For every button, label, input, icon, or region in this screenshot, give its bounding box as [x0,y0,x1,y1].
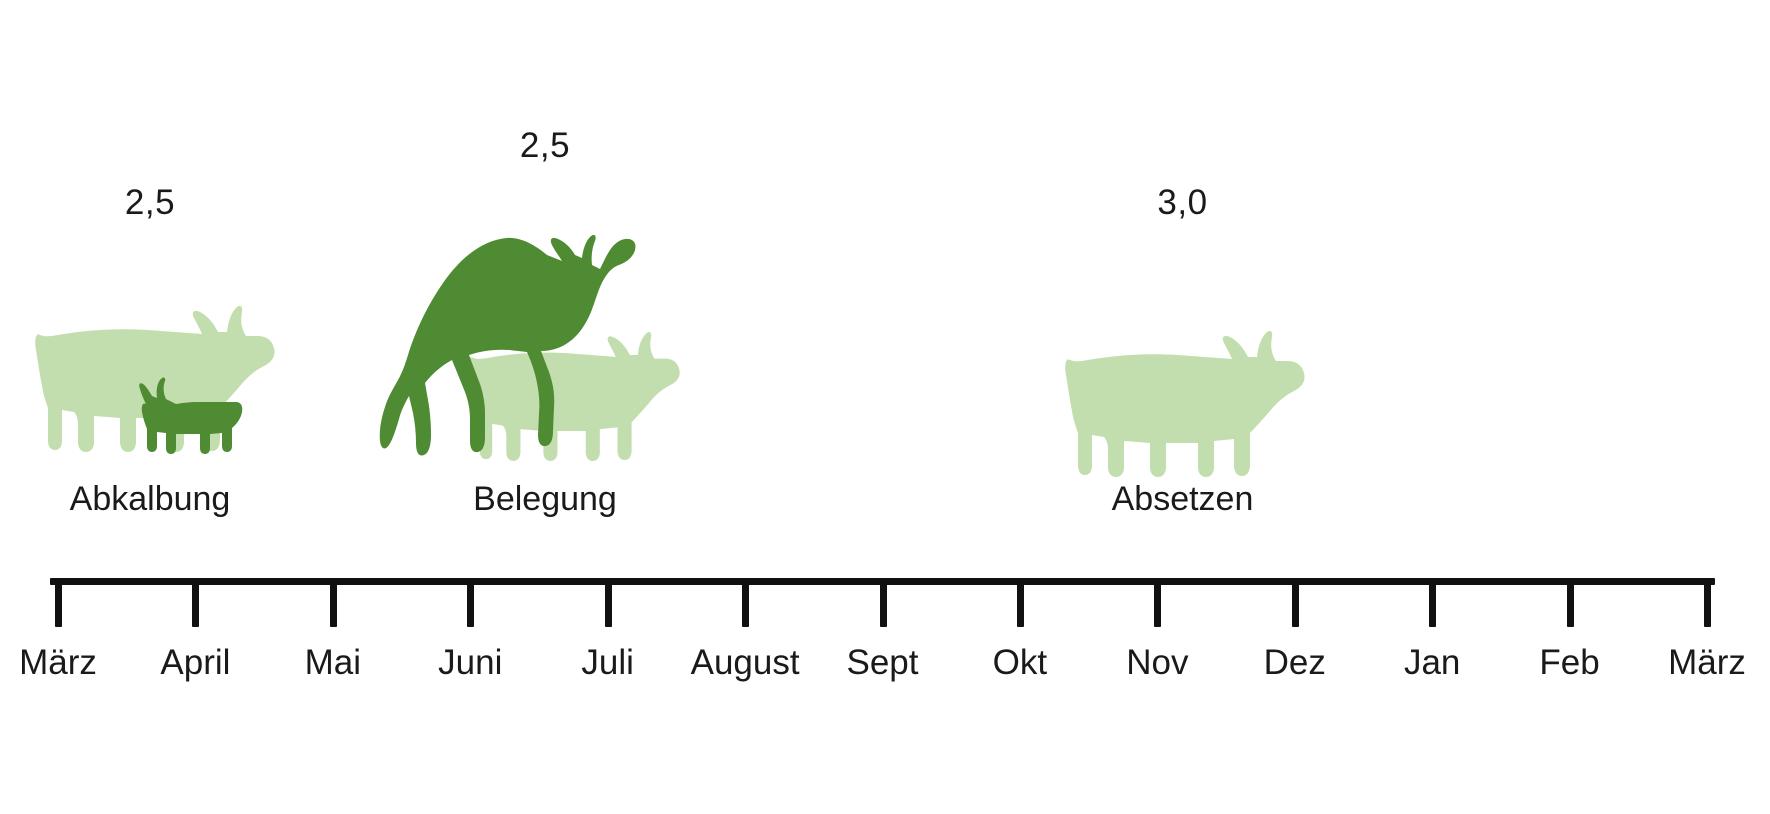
cow-light-icon [460,318,685,468]
axis-tick [1154,580,1161,627]
axis-tick [880,580,887,627]
cow-light-icon [28,290,278,460]
axis-tick [467,580,474,627]
timeline-diagram: 2,5 Abkalbung 2,5 [0,0,1770,814]
event-group-absetzen: 3,0 Absetzen [1030,0,1335,560]
axis-tick-label: Juni [438,645,502,680]
axis-tick-label: Sept [847,645,919,680]
event-value-belegung: 2,5 [370,128,720,163]
axis-tick [1429,580,1436,627]
cow-light-icon [1058,315,1308,485]
axis-tick [605,580,612,627]
axis-tick [1704,580,1711,627]
figure-group-abkalbung [0,0,300,560]
axis-tick-label: Jan [1404,645,1460,680]
axis-tick-label: März [19,645,97,680]
axis-tick-label: Feb [1539,645,1599,680]
timeline-axis [50,570,1715,640]
axis-tick-label: August [691,645,800,680]
figure-group-belegung [370,0,720,560]
figure-group-absetzen [1030,0,1335,560]
axis-tick-label: Juli [581,645,634,680]
event-group-abkalbung: 2,5 Abkalbung [0,0,300,560]
event-label-abkalbung: Abkalbung [0,482,300,516]
axis-tick-label: März [1668,645,1746,680]
axis-tick [1017,580,1024,627]
axis-tick [330,580,337,627]
axis-tick-label: Okt [993,645,1047,680]
event-value-abkalbung: 2,5 [0,185,300,220]
axis-tick-label: April [160,645,230,680]
axis-tick-label: Mai [305,645,361,680]
axis-tick [55,580,62,627]
axis-tick [1567,580,1574,627]
bull-mounting-dark-icon [375,235,640,470]
event-label-absetzen: Absetzen [1030,482,1335,516]
axis-tick-label: Nov [1126,645,1188,680]
event-group-belegung: 2,5 Belegung [370,0,720,560]
timeline-axis-labels: MärzAprilMaiJuniJuliAugustSeptOktNovDezJ… [50,645,1715,705]
axis-tick [192,580,199,627]
axis-tick [742,580,749,627]
event-value-absetzen: 3,0 [1030,185,1335,220]
event-label-belegung: Belegung [370,482,720,516]
axis-tick [1292,580,1299,627]
calf-dark-icon [138,372,248,457]
axis-tick-label: Dez [1264,645,1326,680]
